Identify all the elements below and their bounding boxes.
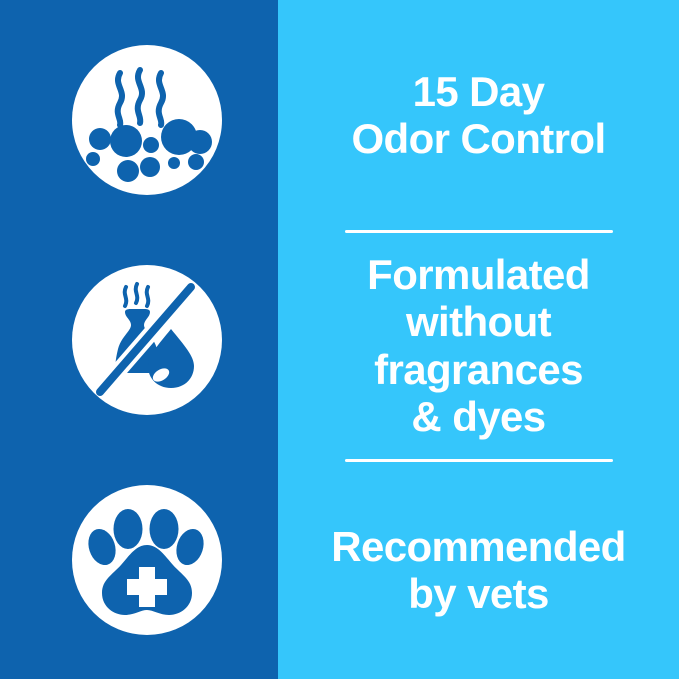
product-feature-panel: 15 Day Odor Control Formulated without f… (0, 0, 679, 679)
feature-text-odor-control: 15 Day Odor Control (351, 68, 605, 163)
feature-item-no-fragrances-dyes: Formulated without fragrances & dyes (278, 233, 679, 459)
no-fragrance-no-dye-icon (72, 265, 222, 415)
feature-item-odor-control: 15 Day Odor Control (278, 0, 679, 230)
feature-text-vet-recommended: Recommended by vets (331, 523, 625, 618)
feature-item-vet-recommended: Recommended by vets (278, 462, 679, 679)
odor-waves-and-particles-icon (72, 45, 222, 195)
icon-badge-vet-recommended (72, 485, 222, 635)
icon-badge-odor-control (72, 45, 222, 195)
feature-text-no-fragrances-dyes: Formulated without fragrances & dyes (367, 251, 590, 441)
paw-with-medical-cross-icon (72, 485, 222, 635)
feature-list: 15 Day Odor Control Formulated without f… (278, 0, 679, 679)
icon-badge-no-fragrance (72, 265, 222, 415)
